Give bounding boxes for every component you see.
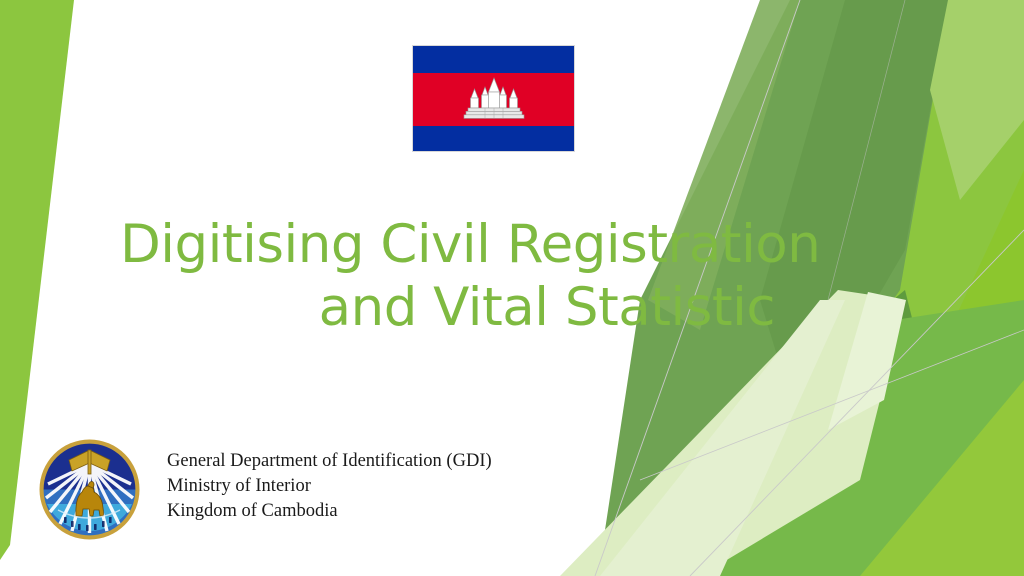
organization-subtitle: General Department of Identification (GD…	[167, 449, 492, 524]
ministry-of-interior-seal-icon	[38, 438, 141, 541]
title-line-1: Digitising Civil Registration	[120, 213, 775, 276]
angkor-wat-icon	[458, 76, 530, 124]
light-green-bottom-facet	[860, 380, 1024, 576]
subtitle-line-1: General Department of Identification (GD…	[167, 449, 492, 474]
pale-green-sliver	[828, 292, 906, 430]
flag-of-cambodia	[412, 45, 575, 152]
title-line-2: and Vital Statistic	[120, 276, 775, 339]
page-title: Digitising Civil Registration and Vital …	[120, 213, 775, 339]
medium-green-band	[640, 300, 1024, 576]
pale-green-wedge-bottom	[600, 300, 845, 576]
deep-green-triangle	[820, 290, 940, 480]
pale-green-facet-upper	[930, 0, 1024, 200]
presentation-slide: Digitising Civil Registration and Vital …	[0, 0, 1024, 576]
subtitle-line-2: Ministry of Interior	[167, 474, 492, 499]
subtitle-line-3: Kingdom of Cambodia	[167, 499, 492, 524]
hairline-4	[828, 0, 905, 300]
hairline-3	[640, 330, 1024, 480]
